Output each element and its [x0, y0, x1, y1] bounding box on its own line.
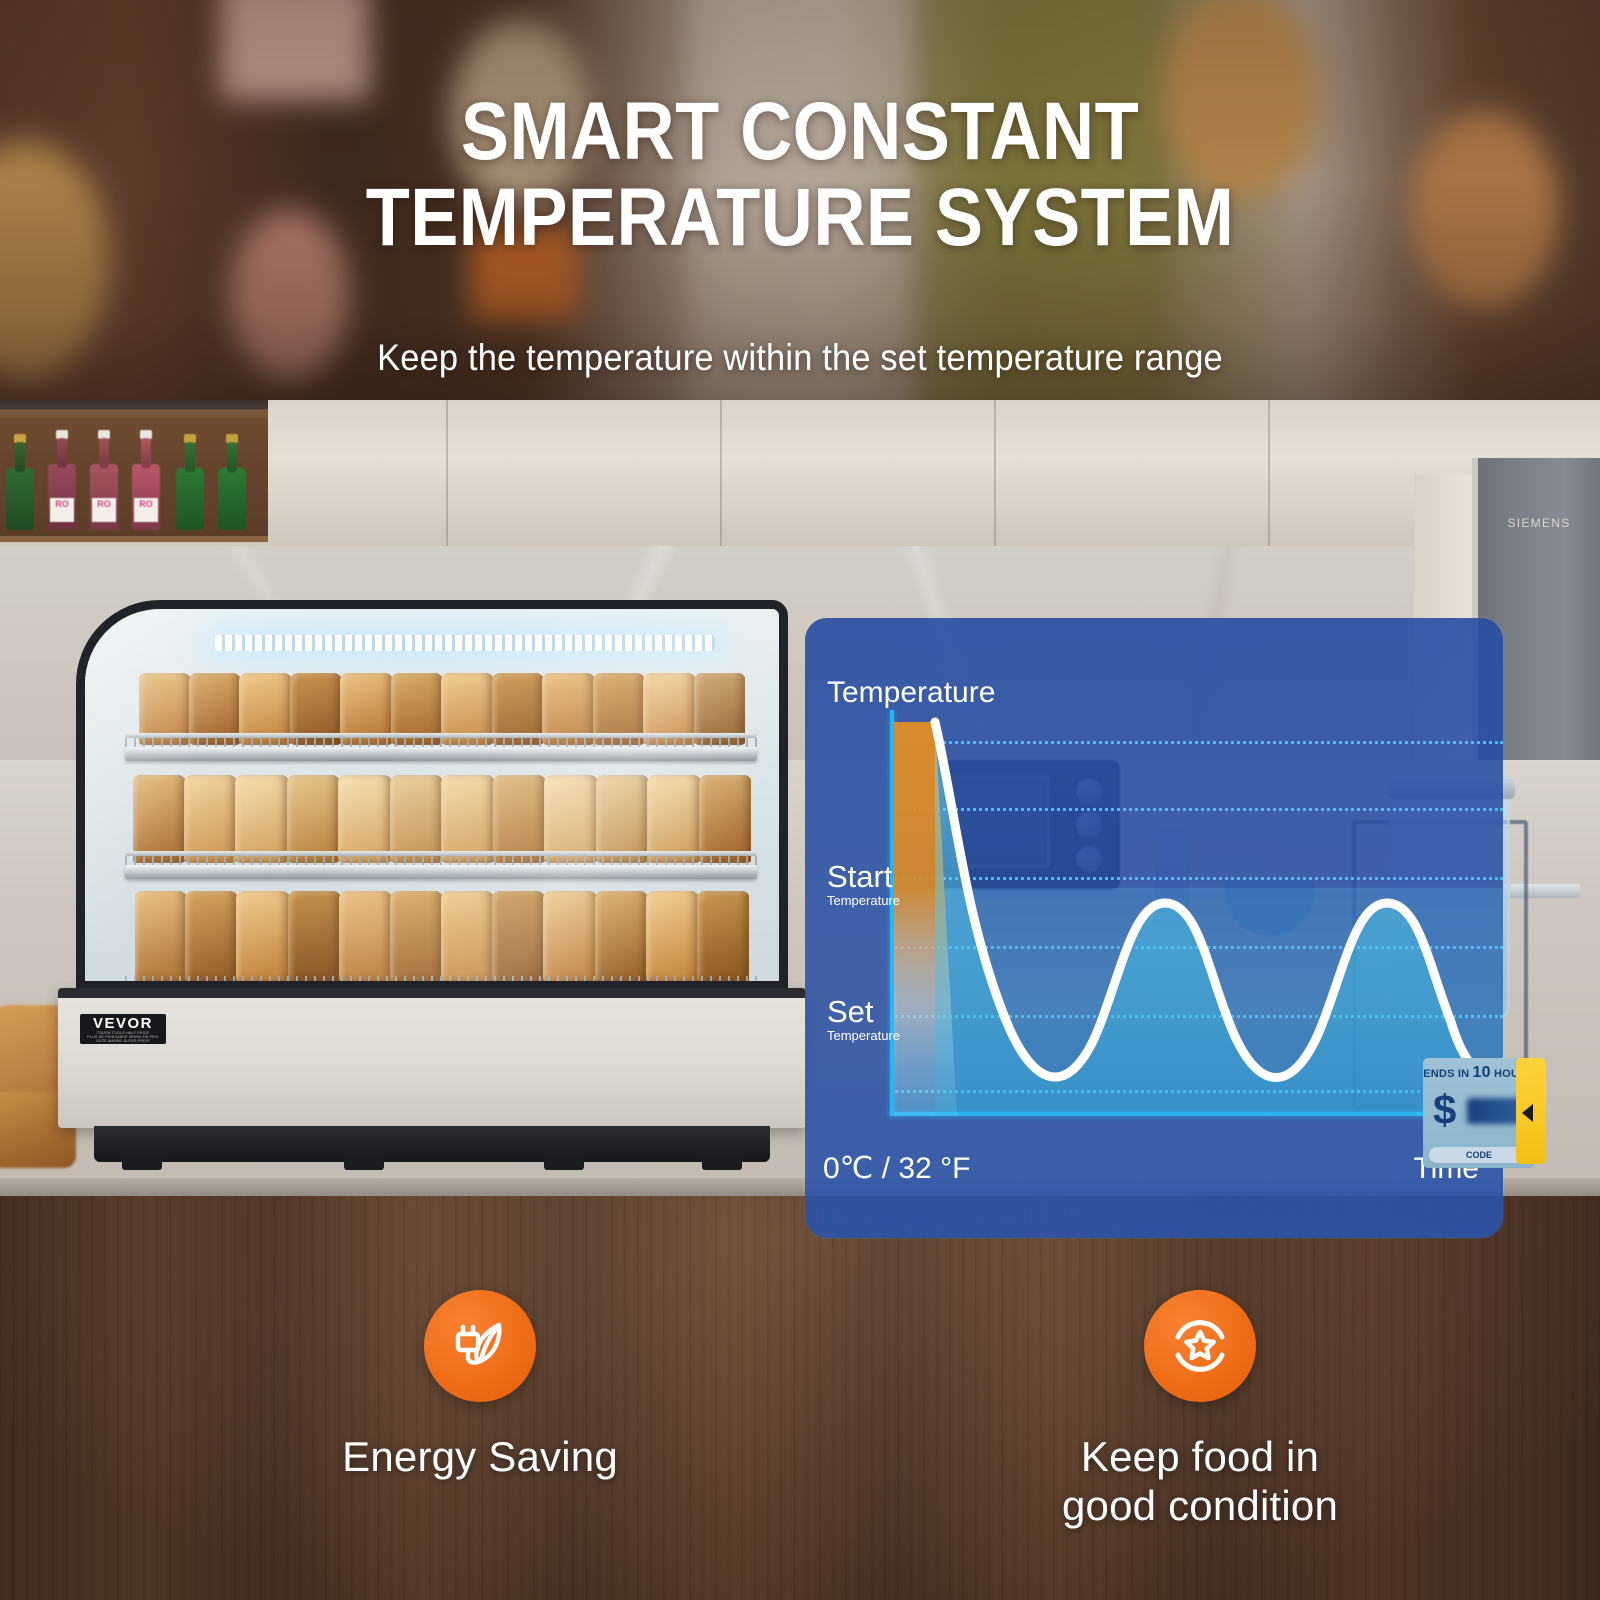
bread-row-middle — [133, 775, 751, 863]
feature-keep-food-good: Keep food in good condition — [945, 1290, 1455, 1530]
upper-cabinets — [268, 400, 1600, 546]
feature-row: Energy Saving Keep food in good conditio… — [0, 1290, 1600, 1600]
bottle-label: RO — [92, 498, 116, 522]
plug-leaf-icon — [424, 1290, 536, 1402]
start-label-small: Temperature — [827, 893, 900, 909]
bottle-shelf: RO RO RO — [0, 410, 268, 542]
start-label-big: Start — [827, 861, 900, 893]
chart-origin-label: 0℃ / 32 °F — [823, 1151, 970, 1186]
bottle-label: RO — [134, 498, 158, 522]
case-glass-front — [76, 600, 788, 990]
bread-row-bottom — [135, 891, 749, 983]
case-base-cabinet: VEVOR TOUGH TOOLS HALF PRICE PLUS DE PUI… — [58, 988, 806, 1128]
set-label-small: Temperature — [827, 1028, 900, 1044]
case-shelf-upper-rail — [125, 733, 757, 738]
temperature-curve-svg — [805, 618, 1503, 1238]
temperature-chart-panel: Temperature Start Temperature Set Temper… — [805, 618, 1503, 1238]
title-line-1: SMART CONSTANT — [461, 86, 1139, 177]
case-shelf-lower — [125, 865, 757, 879]
page-title: SMART CONSTANT TEMPERATURE SYSTEM — [96, 92, 1504, 257]
star-circle-icon — [1144, 1290, 1256, 1402]
refrigerated-display-case: VEVOR TOUGH TOOLS HALF PRICE PLUS DE PUI… — [58, 600, 798, 1160]
coupon-prefix: ENDS IN — [1423, 1068, 1469, 1080]
case-shelf-lower-rail — [125, 851, 757, 856]
product-infographic: SMART CONSTANT TEMPERATURE SYSTEM Keep t… — [0, 0, 1600, 1600]
case-shelf-upper — [125, 747, 757, 761]
chart-y-axis-title: Temperature — [827, 676, 995, 710]
hero-banner: SMART CONSTANT TEMPERATURE SYSTEM Keep t… — [0, 0, 1600, 400]
title-line-2: TEMPERATURE SYSTEM — [96, 178, 1504, 258]
coupon-code-label: CODE — [1429, 1147, 1529, 1163]
coupon-hours: 10 — [1473, 1064, 1491, 1081]
led-light-strip — [215, 635, 715, 651]
set-label-big: Set — [827, 996, 900, 1028]
feature-energy-saving-label: Energy Saving — [230, 1432, 730, 1481]
feature-keep-food-label: Keep food in good condition — [945, 1432, 1455, 1530]
vevor-brand-badge: VEVOR TOUGH TOOLS HALF PRICE PLUS DE PUI… — [80, 1014, 166, 1044]
page-subtitle: Keep the temperature within the set temp… — [56, 337, 1544, 379]
feature-energy-saving: Energy Saving — [230, 1290, 730, 1481]
vevor-tagline-3: GUTE MARKE GUTER PREIS — [80, 1039, 166, 1043]
siemens-logo: SIEMENS — [1507, 516, 1570, 530]
chart-set-temperature-label: Set Temperature — [827, 996, 900, 1044]
coupon-currency: $ — [1433, 1086, 1456, 1134]
coupon-collapse-tab[interactable] — [1516, 1058, 1546, 1164]
bottle-label: RO — [50, 498, 74, 522]
vevor-wordmark: VEVOR — [80, 1014, 166, 1031]
chart-start-temperature-label: Start Temperature — [827, 861, 900, 909]
case-plinth — [94, 1126, 770, 1162]
